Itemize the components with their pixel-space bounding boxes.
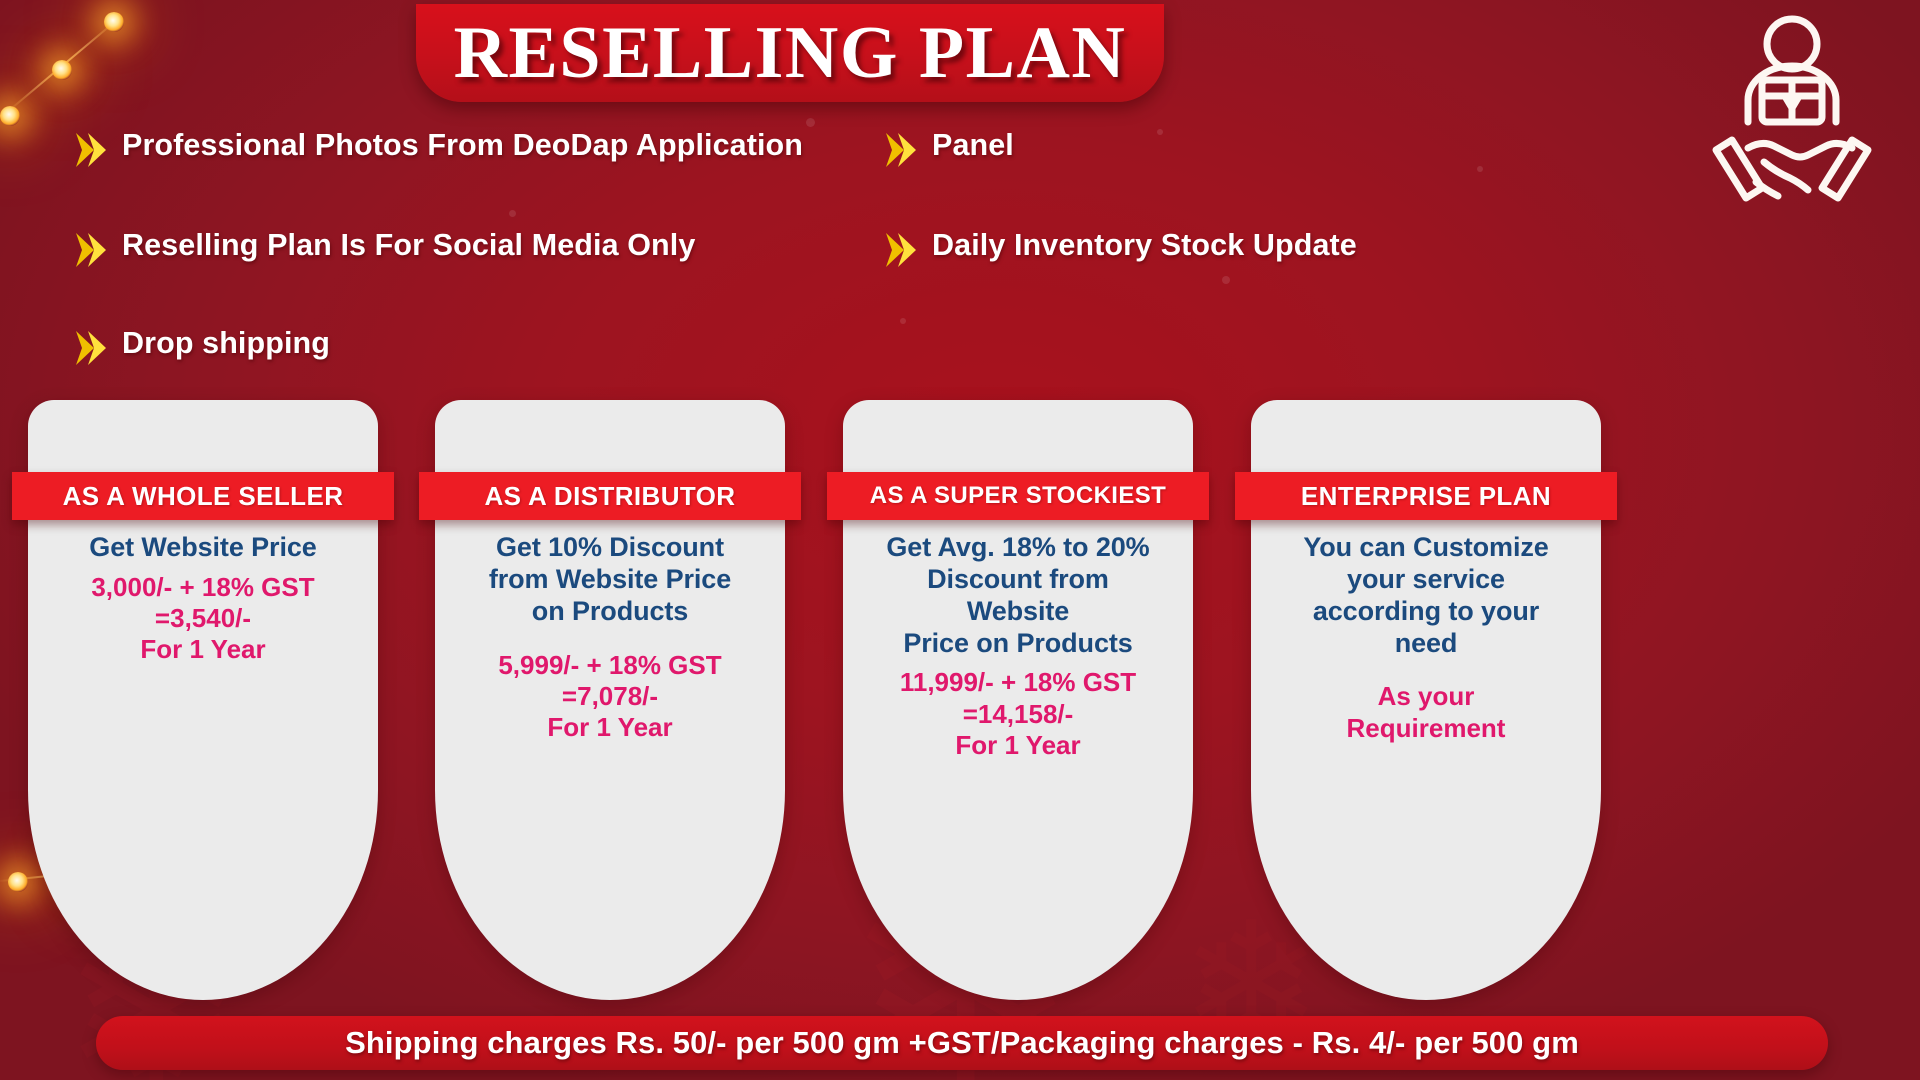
card-content: Get 10% Discount from Website Price on P… bbox=[449, 532, 771, 743]
card-content: Get Avg. 18% to 20% Discount from Websit… bbox=[857, 532, 1179, 761]
plan-headline: Get Website Price bbox=[42, 532, 364, 564]
plan-price: 11,999/- + 18% GST =14,158/- For 1 Year bbox=[857, 667, 1179, 761]
plan-ribbon-label: AS A SUPER STOCKIEST bbox=[870, 482, 1167, 510]
double-chevron-icon bbox=[74, 230, 108, 270]
feature-item: Professional Photos From DeoDap Applicat… bbox=[74, 126, 874, 170]
plan-headline: You can Customize your service according… bbox=[1265, 532, 1587, 659]
plan-ribbon-label: ENTERPRISE PLAN bbox=[1301, 481, 1551, 512]
plan-ribbon-label: AS A DISTRIBUTOR bbox=[484, 481, 735, 512]
plan-price: 3,000/- + 18% GST =3,540/- For 1 Year bbox=[42, 572, 364, 666]
feature-label: Panel bbox=[932, 126, 1014, 165]
shipping-charges-text: Shipping charges Rs. 50/- per 500 gm +GS… bbox=[345, 1025, 1579, 1061]
feature-item: Daily Inventory Stock Update bbox=[884, 226, 1484, 270]
card-content: Get Website Price 3,000/- + 18% GST =3,5… bbox=[42, 532, 364, 665]
poster-title-text: RESELLING PLAN bbox=[454, 11, 1127, 96]
feature-list: Professional Photos From DeoDap Applicat… bbox=[74, 126, 1494, 392]
poster-title: RESELLING PLAN bbox=[416, 4, 1164, 102]
poster-canvas: ❄ ❄ ❄ RESELLING PLAN bbox=[0, 0, 1920, 1080]
plan-price: 5,999/- + 18% GST =7,078/- For 1 Year bbox=[449, 650, 771, 744]
plan-price: As your Requirement bbox=[1265, 681, 1587, 743]
feature-label: Daily Inventory Stock Update bbox=[932, 226, 1357, 265]
double-chevron-icon bbox=[884, 130, 918, 170]
shipping-charges-banner: Shipping charges Rs. 50/- per 500 gm +GS… bbox=[96, 1016, 1828, 1070]
feature-label: Drop shipping bbox=[122, 324, 330, 363]
feature-item: Reselling Plan Is For Social Media Only bbox=[74, 226, 874, 270]
pricing-card-row: AS A WHOLE SELLER Get Website Price 3,00… bbox=[0, 400, 1920, 1000]
plan-ribbon-label: AS A WHOLE SELLER bbox=[63, 481, 344, 512]
plan-headline: Get 10% Discount from Website Price on P… bbox=[449, 532, 771, 628]
plan-headline: Get Avg. 18% to 20% Discount from Websit… bbox=[857, 532, 1179, 659]
plan-ribbon: AS A SUPER STOCKIEST bbox=[827, 472, 1209, 520]
double-chevron-icon bbox=[74, 130, 108, 170]
plan-ribbon: AS A DISTRIBUTOR bbox=[419, 472, 801, 520]
double-chevron-icon bbox=[74, 328, 108, 368]
feature-label: Professional Photos From DeoDap Applicat… bbox=[122, 126, 803, 165]
plan-ribbon: ENTERPRISE PLAN bbox=[1235, 472, 1617, 520]
card-content: You can Customize your service according… bbox=[1265, 532, 1587, 744]
plan-ribbon: AS A WHOLE SELLER bbox=[12, 472, 394, 520]
double-chevron-icon bbox=[884, 230, 918, 270]
feature-label: Reselling Plan Is For Social Media Only bbox=[122, 226, 695, 265]
feature-item: Drop shipping bbox=[74, 324, 874, 368]
feature-item: Panel bbox=[884, 126, 1484, 170]
handshake-partnership-icon bbox=[1708, 12, 1876, 204]
